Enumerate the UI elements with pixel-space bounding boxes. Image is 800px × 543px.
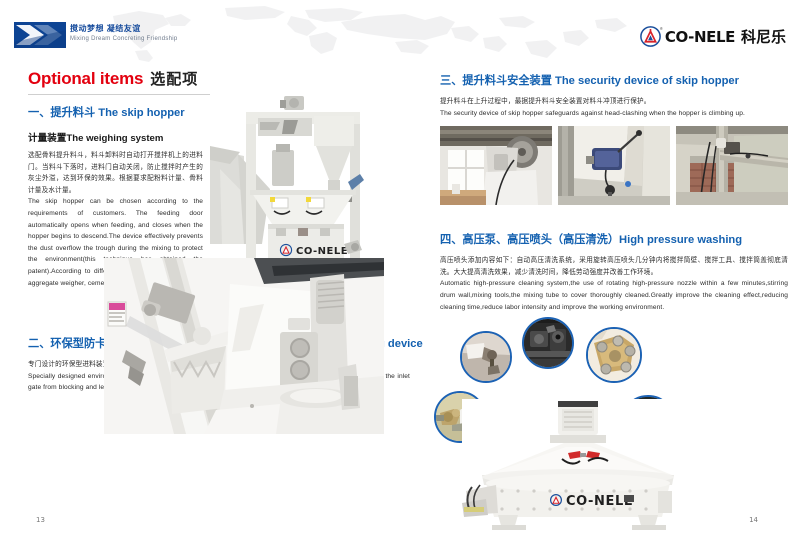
section-3-heading: 三、提升料斗安全装置 The security device of skip h… (440, 72, 788, 88)
brand-name-cn: 科尼乐 (741, 26, 786, 47)
skip-hopper-mixer-photo: CO-NELE (210, 94, 410, 282)
trademark-symbol: ® (660, 26, 663, 31)
brand-logo: ® CO-NELE 科尼乐 (640, 26, 786, 47)
page-number-right: 14 (749, 516, 758, 524)
header-slogan-cn: 搅动梦想 凝结友谊 (70, 23, 141, 34)
brochure-page: 搅动梦想 凝结友谊 Mixing Dream Concreting Friend… (0, 0, 800, 543)
right-column: 三、提升料斗安全装置 The security device of skip h… (440, 72, 788, 537)
high-pressure-washing-gallery: CO-NELE (440, 317, 788, 537)
rotating-nozzle-head-photo (586, 327, 642, 383)
world-map-watermark-icon (95, 2, 655, 62)
page-title: Optional items选配项 (28, 68, 410, 89)
svg-text:CO-NELE: CO-NELE (296, 246, 348, 257)
high-pressure-pump-photo (522, 317, 574, 369)
section-4-body-cn: 高压喷头添加内容如下：自动高压清洗系统，采用旋转高压喷头几分钟内将搅拌筒壁、搅拌… (440, 255, 788, 278)
anti-block-feeding-device-photo (104, 258, 384, 434)
limit-switch-sensor-photo (558, 126, 670, 205)
brand-name-en: CO-NELE (665, 28, 735, 46)
page-header: 搅动梦想 凝结友谊 Mixing Dream Concreting Friend… (0, 0, 800, 62)
double-chevron-icon (14, 22, 66, 48)
section-3-thumbnail-row (440, 126, 788, 205)
page-title-cn: 选配项 (150, 71, 198, 88)
nozzle-closeup-photo (460, 331, 512, 383)
section-1-body-cn: 选配骨料提升料斗，料斗卸料时自动打开搅拌机上的进料门。当料斗下落时，进料门自动关… (28, 150, 203, 196)
skip-hopper-winch-photo (440, 126, 552, 205)
page-number-left: 13 (36, 516, 45, 524)
page-title-en: Optional items (28, 69, 143, 88)
header-slogan-en: Mixing Dream Concreting Friendship (70, 36, 178, 42)
section-3-body-cn: 提升料斗在上升过程中，最据提升料斗安全装置对料斗冲顶进行保护。 (440, 96, 788, 108)
section-4-heading: 四、高压泵、高压喷头（高压清洗）High pressure washing (440, 231, 788, 247)
svg-text:CO-NELE: CO-NELE (566, 494, 633, 509)
section-4-body-en: Automatic high-pressure cleaning system,… (440, 278, 788, 313)
co-nele-triangle-logo-icon: ® (640, 26, 661, 47)
safety-rail-bracket-photo (676, 126, 788, 205)
section-3-body-en: The security device of skip hopper safeg… (440, 108, 788, 120)
co-nele-planetary-mixer-photo: CO-NELE (462, 399, 694, 531)
